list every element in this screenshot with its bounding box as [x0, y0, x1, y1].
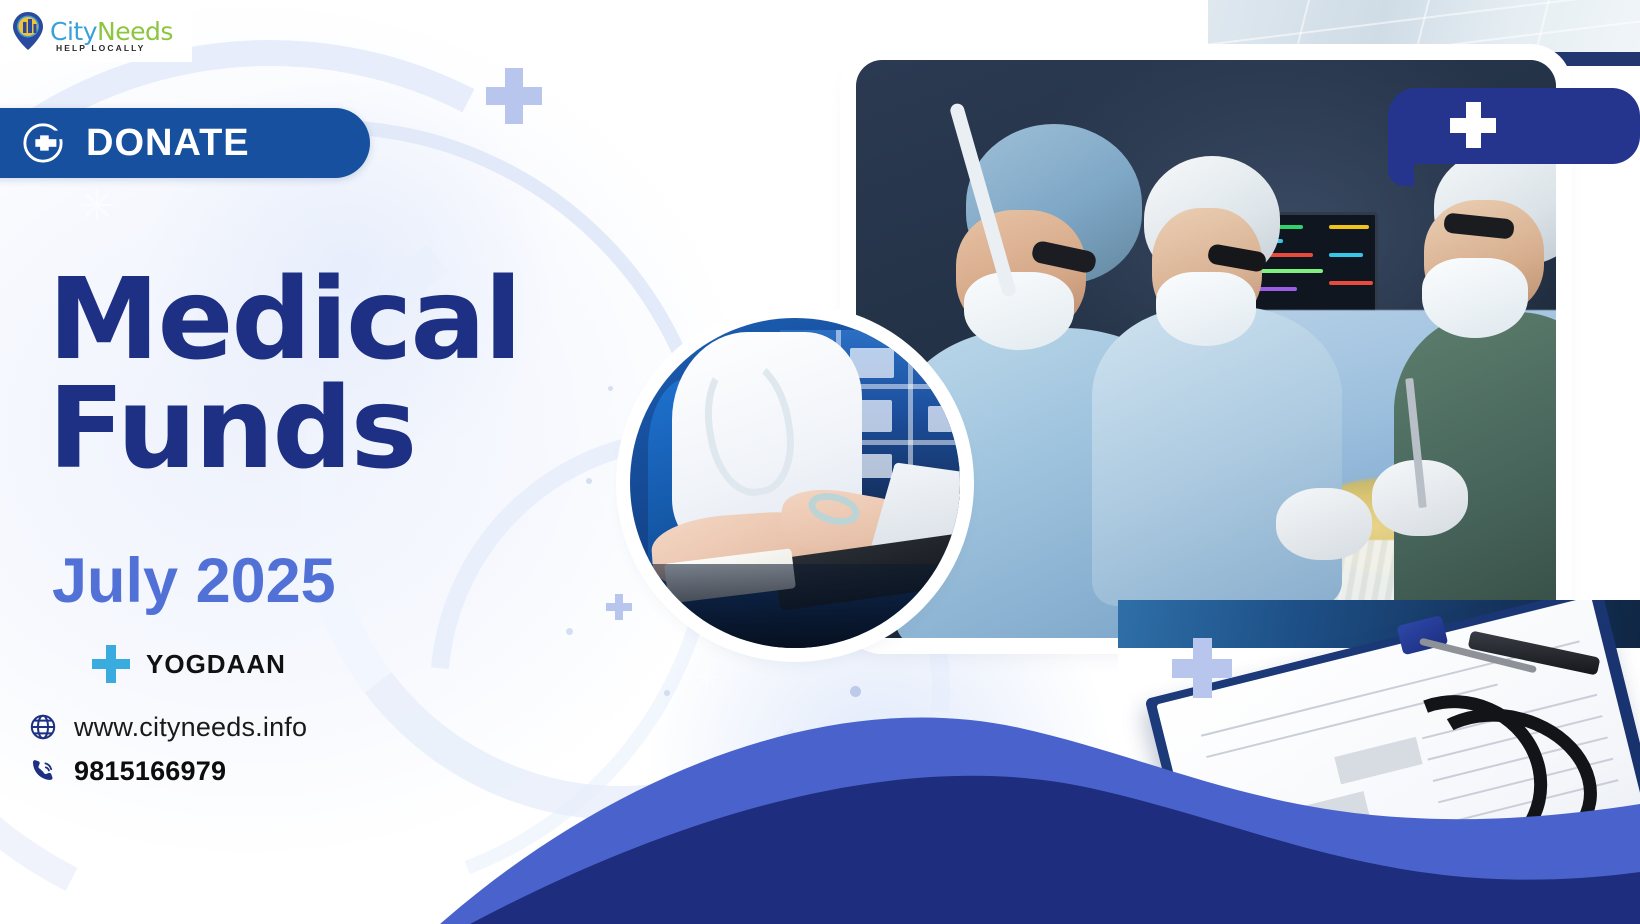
circle-plus-donate-icon [22, 122, 64, 164]
page-title-line1: Medical [48, 266, 520, 375]
doctor-laptop-circle-photo [630, 318, 960, 648]
decorative-dot [566, 628, 573, 635]
page-title: Medical Funds [48, 266, 520, 483]
decorative-dot [608, 386, 613, 391]
logo-city-text: City [50, 17, 97, 46]
donate-button-label: DONATE [86, 122, 250, 165]
logo-needs-text: Needs [97, 17, 173, 46]
poster-canvas: CityNeeds HELP LOCALLY DONATE Medical Fu… [0, 0, 1640, 924]
bottom-wave-decoration [0, 664, 1640, 924]
campaign-period: July 2025 [52, 545, 336, 617]
logo-tagline: HELP LOCALLY [12, 43, 145, 53]
medical-cross-badge [1388, 88, 1640, 164]
donate-button[interactable]: DONATE [0, 108, 370, 178]
page-title-line2: Funds [48, 375, 520, 484]
decorative-dot [586, 478, 592, 484]
white-cross-icon [1450, 102, 1496, 148]
cityneeds-logo[interactable]: CityNeeds HELP LOCALLY [0, 0, 192, 62]
